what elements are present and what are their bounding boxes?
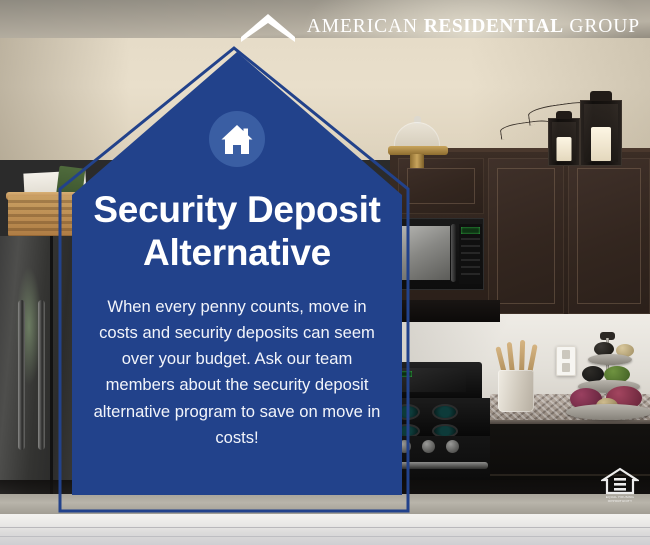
utensil-crock xyxy=(498,370,534,412)
oven-door-handle xyxy=(388,462,488,469)
cake-pedestal-stem xyxy=(410,154,424,168)
lantern-large xyxy=(580,100,622,166)
headline: Security Deposit Alternative xyxy=(87,189,387,275)
promotional-graphic: Security Deposit Alternative When every … xyxy=(0,0,650,545)
refrigerator-door-seam xyxy=(50,236,53,508)
cabinet-door xyxy=(488,158,564,314)
security-deposit-badge: Security Deposit Alternative When every … xyxy=(72,50,402,495)
microwave-keypad xyxy=(461,238,480,280)
tiered-stand-tray xyxy=(566,404,650,420)
tiered-stand-tray xyxy=(588,354,632,365)
microwave-window xyxy=(402,226,450,280)
cabinet-door xyxy=(568,158,650,314)
ledge-line xyxy=(0,536,650,537)
brand-name-part3: GROUP xyxy=(564,16,640,37)
house-icon xyxy=(220,124,254,155)
brand-logo: AMERICAN RESIDENTIAL GROUP xyxy=(240,11,640,43)
brand-name-part1: AMERICAN xyxy=(307,16,424,37)
range-knob xyxy=(422,440,435,453)
refrigerator-handle xyxy=(18,300,25,450)
equal-housing-caption: EQUAL HOUSING OPPORTUNITY xyxy=(606,496,634,504)
electrical-outlet xyxy=(556,346,576,376)
refrigerator-handle xyxy=(38,300,45,450)
foreground-white-ledge xyxy=(0,514,650,545)
body-copy: When every penny counts, move in costs a… xyxy=(92,294,382,451)
burner xyxy=(432,404,458,420)
brand-name: AMERICAN RESIDENTIAL GROUP xyxy=(307,16,640,38)
equal-housing-logo: EQUAL HOUSING OPPORTUNITY xyxy=(598,467,642,507)
microwave-display xyxy=(461,227,480,234)
range-upper-shadow xyxy=(390,300,500,322)
microwave-handle xyxy=(451,224,456,282)
house-icon-circle xyxy=(209,111,265,167)
ledge-line xyxy=(0,527,650,528)
foreground-counter xyxy=(0,494,650,516)
range-knob-row xyxy=(392,440,486,454)
chevron-roof-icon xyxy=(240,11,296,43)
range-knob xyxy=(446,440,459,453)
lantern-small xyxy=(548,118,580,166)
equal-housing-opportunity-icon xyxy=(601,467,639,495)
brand-name-part2: RESIDENTIAL xyxy=(424,16,564,37)
